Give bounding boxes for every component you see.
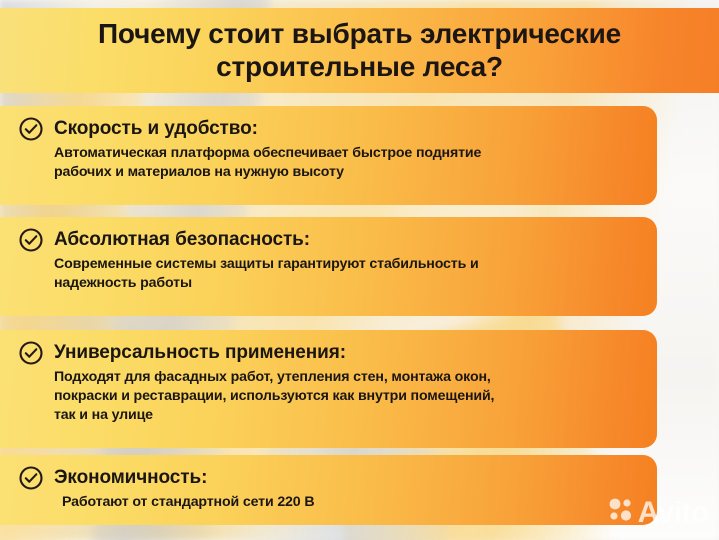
feature-body-line: Работают от стандартной сети 220 В: [62, 493, 635, 512]
page-title-line-2: строительные леса?: [216, 51, 503, 83]
feature-body-line: Подходят для фасадных работ, утепления с…: [54, 368, 635, 387]
feature-body-line: покраски и реставрации, используются как…: [54, 387, 635, 406]
feature-body-line: Автоматическая платформа обеспечивает бы…: [54, 144, 635, 163]
feature-card: Универсальность применения: Подходят для…: [0, 330, 657, 448]
check-circle-icon: [18, 227, 44, 253]
feature-body-line: Современные системы защиты гарантируют с…: [54, 255, 635, 274]
feature-body-line: надежность работы: [54, 274, 635, 293]
feature-body-line: рабочих и материалов на нужную высоту: [54, 163, 635, 182]
avito-watermark: Avito: [608, 497, 709, 528]
check-circle-icon: [18, 340, 44, 366]
feature-body: Автоматическая платформа обеспечивает бы…: [18, 144, 635, 183]
feature-body-line: так и на улице: [54, 406, 635, 425]
feature-title: Скорость и удобство:: [54, 118, 258, 141]
feature-body: Подходят для фасадных работ, утепления с…: [18, 368, 635, 425]
feature-title: Абсолютная безопасность:: [54, 229, 310, 252]
infographic-poster: Почему стоит выбрать электрические строи…: [0, 0, 719, 540]
feature-card-header: Универсальность применения:: [18, 340, 635, 366]
feature-card: Скорость и удобство: Автоматическая плат…: [0, 106, 657, 205]
title-banner: Почему стоит выбрать электрические строи…: [0, 8, 719, 93]
feature-card: Абсолютная безопасность: Современные сис…: [0, 217, 657, 316]
check-circle-icon: [18, 116, 44, 142]
feature-body: Современные системы защиты гарантируют с…: [18, 255, 635, 294]
feature-card: Экономичность: Работают от стандартной с…: [0, 455, 657, 525]
feature-card-header: Абсолютная безопасность:: [18, 227, 635, 253]
feature-card-header: Скорость и удобство:: [18, 116, 635, 142]
page-title-line-1: Почему стоит выбрать электрические: [98, 18, 621, 50]
avito-wordmark: Avito: [638, 498, 709, 528]
feature-title: Экономичность:: [54, 467, 207, 490]
avito-dots-icon: [608, 497, 634, 528]
check-circle-icon: [18, 465, 44, 491]
feature-title: Универсальность применения:: [54, 342, 346, 365]
feature-body: Работают от стандартной сети 220 В: [18, 493, 635, 512]
feature-card-header: Экономичность:: [18, 465, 635, 491]
